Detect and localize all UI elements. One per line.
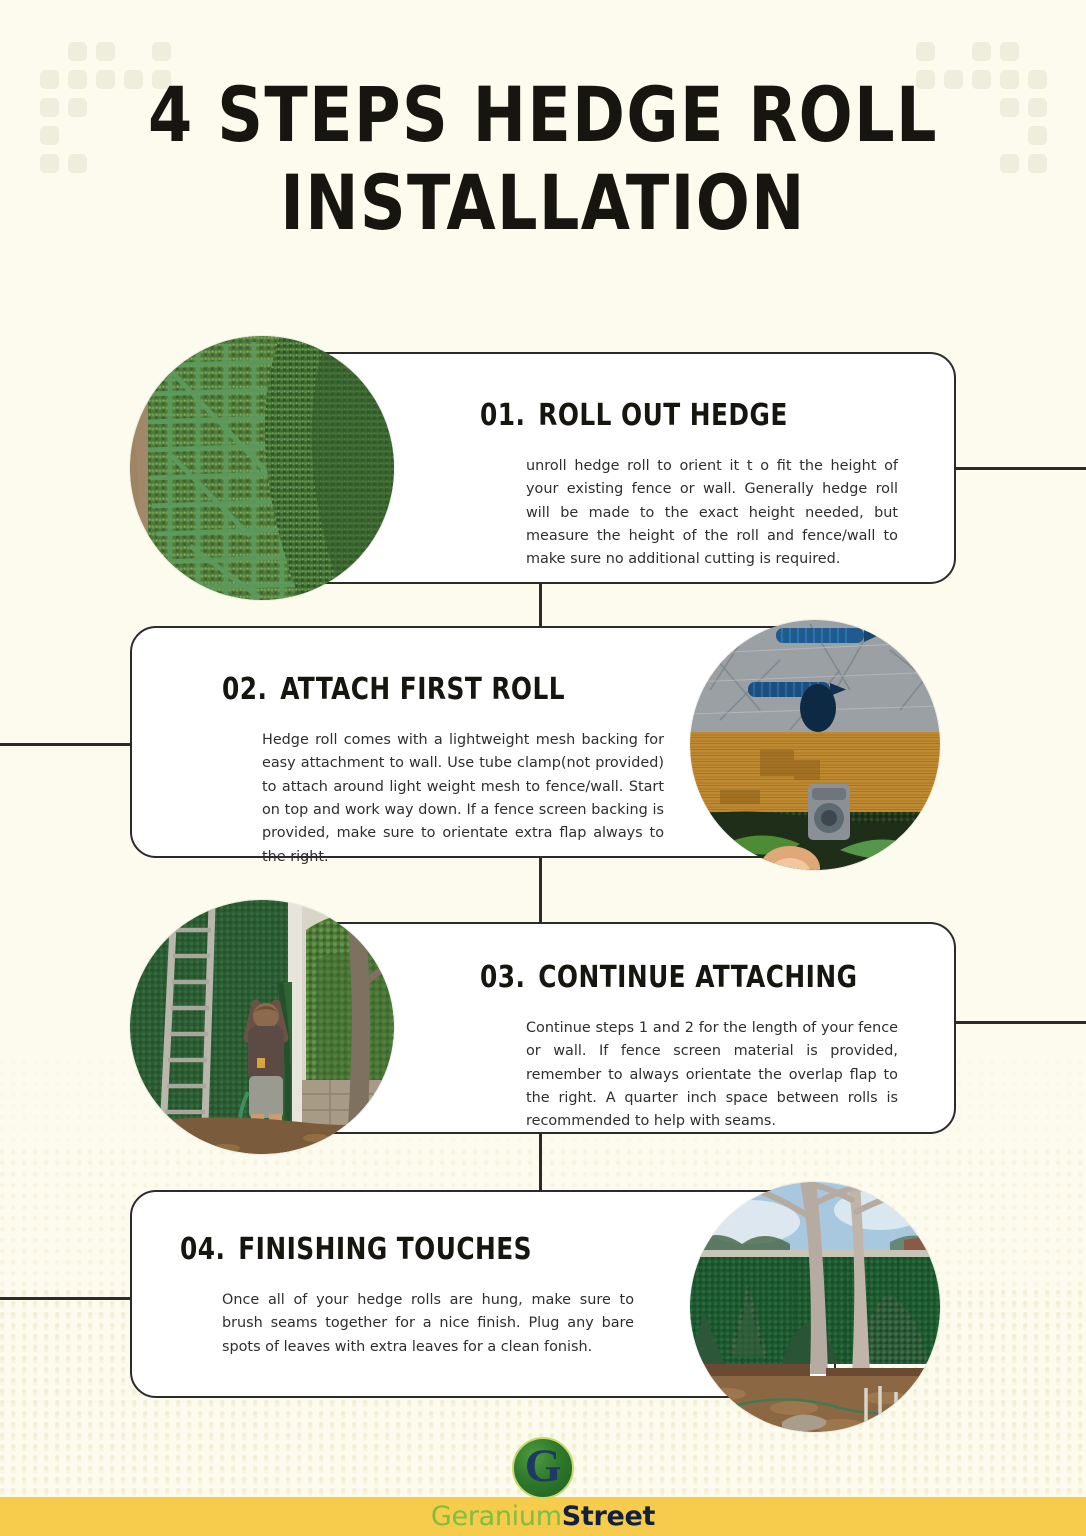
step-2-title: Attach First Roll	[280, 672, 565, 707]
title-line-2: Installation	[38, 166, 1048, 240]
step-4-body: 04.Finishing Touches Once all of your he…	[180, 1232, 634, 1359]
infographic-poster: 4 Steps Hedge Roll Installation 01.Roll …	[0, 0, 1086, 1536]
step-3-title: Continue Attaching	[538, 960, 857, 995]
footer-logo[interactable]: G GeraniumStreet	[0, 1437, 1086, 1532]
step-1-number: 01.	[480, 398, 525, 433]
step-4-photo	[690, 1182, 940, 1432]
step-1-photo	[130, 336, 394, 600]
step-3-description: Continue steps 1 and 2 for the length of…	[526, 1017, 898, 1134]
step-2-heading-row: 02.Attach First Roll	[222, 672, 629, 707]
connector-line-vertical-3-4	[539, 1128, 542, 1194]
connector-line-left-2	[0, 743, 134, 746]
step-2-photo	[690, 620, 940, 870]
step-1-description: unroll hedge roll to orient it t o fit t…	[526, 455, 898, 572]
step-4-title: Finishing Touches	[238, 1232, 532, 1267]
step-2-number: 02.	[222, 672, 267, 707]
connector-line-left-4	[0, 1297, 134, 1300]
logo-letter-g: G	[525, 1443, 562, 1490]
brand-wordmark: GeraniumStreet	[0, 1501, 1086, 1532]
step-1-heading-row: 01.Roll Out Hedge	[480, 398, 865, 433]
page-title: 4 Steps Hedge Roll Installation	[38, 78, 1048, 241]
geranium-street-logo-icon: G	[512, 1437, 574, 1499]
connector-line-vertical-1-2	[539, 578, 542, 630]
brand-name-part1: Geranium	[431, 1501, 562, 1532]
connector-line-right-3	[952, 1021, 1086, 1024]
title-line-1: 4 Steps Hedge Roll	[148, 70, 938, 159]
step-2-body: 02.Attach First Roll Hedge roll comes wi…	[222, 672, 664, 869]
step-3-number: 03.	[480, 960, 525, 995]
step-3-heading-row: 03.Continue Attaching	[480, 960, 865, 995]
step-3-photo	[130, 900, 394, 1154]
step-3-body: 03.Continue Attaching Continue steps 1 a…	[480, 960, 898, 1134]
step-4-description: Once all of your hedge rolls are hung, m…	[222, 1289, 634, 1359]
brand-name-part2: Street	[562, 1501, 655, 1532]
connector-line-right-1	[952, 467, 1086, 470]
step-1-title: Roll Out Hedge	[538, 398, 788, 433]
step-1-body: 01.Roll Out Hedge unroll hedge roll to o…	[480, 398, 898, 572]
step-4-heading-row: 04.Finishing Touches	[180, 1232, 598, 1267]
step-4-number: 04.	[180, 1232, 225, 1267]
step-2-description: Hedge roll comes with a lightweight mesh…	[262, 729, 664, 869]
